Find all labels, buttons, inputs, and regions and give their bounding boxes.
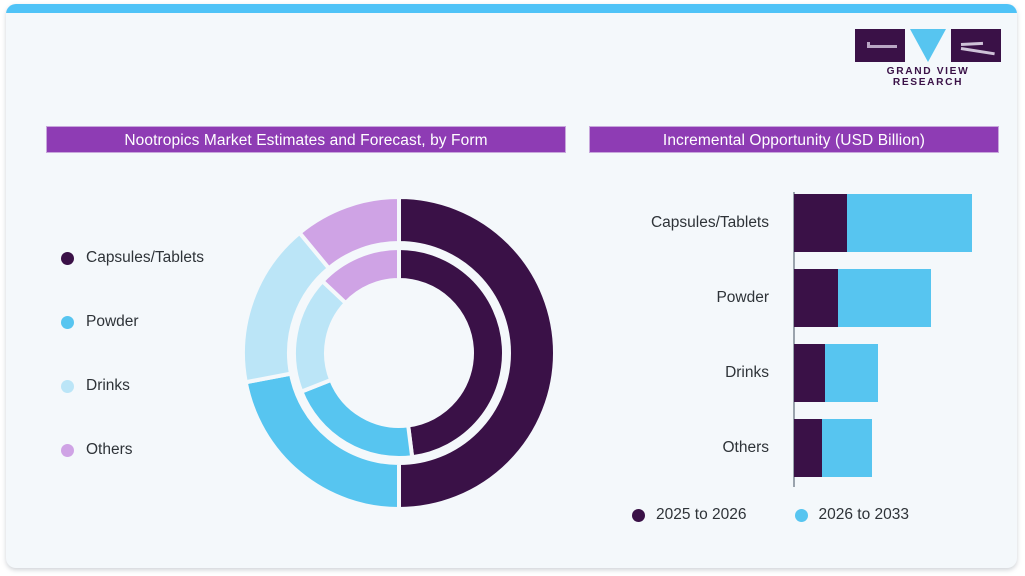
- accent-top-bar: [6, 4, 1017, 13]
- legend-swatch-icon: [632, 509, 645, 522]
- bar-row[interactable]: Capsules/Tablets: [606, 194, 1001, 252]
- legend-item-others[interactable]: Others: [61, 418, 251, 482]
- legend-item-capsules-tablets[interactable]: Capsules/Tablets: [61, 226, 251, 290]
- donut-legend: Capsules/Tablets Powder Drinks Others: [61, 226, 251, 482]
- legend-swatch-icon: [61, 380, 74, 393]
- logo-right-block-icon: [951, 29, 1001, 62]
- logo-mark: [855, 29, 1001, 62]
- bar-row[interactable]: Powder: [606, 269, 1001, 327]
- legend-swatch-icon: [61, 252, 74, 265]
- legend-item-2025-2026[interactable]: 2025 to 2026: [632, 506, 747, 524]
- bar-category-label: Others: [722, 439, 769, 457]
- legend-label: Others: [86, 441, 133, 459]
- grand-view-research-logo: GRAND VIEW RESEARCH: [855, 29, 1001, 79]
- nested-donut-chart: [236, 190, 562, 516]
- bar-row[interactable]: Others: [606, 419, 1001, 477]
- logo-left-line-icon: [867, 45, 897, 48]
- bar-row[interactable]: Drinks: [606, 344, 1001, 402]
- bar-category-label: Drinks: [725, 364, 769, 382]
- legend-item-powder[interactable]: Powder: [61, 290, 251, 354]
- legend-label: 2025 to 2026: [656, 506, 747, 524]
- bar-segment-2026-2033[interactable]: [825, 344, 878, 402]
- brand-name: GRAND VIEW RESEARCH: [855, 66, 1001, 88]
- legend-item-2026-2033[interactable]: 2026 to 2033: [795, 506, 910, 524]
- legend-label: Capsules/Tablets: [86, 249, 204, 267]
- bar-category-label: Capsules/Tablets: [651, 214, 769, 232]
- legend-label: Drinks: [86, 377, 130, 395]
- bar-chart-legend: 2025 to 2026 2026 to 2033: [632, 506, 972, 524]
- legend-item-drinks[interactable]: Drinks: [61, 354, 251, 418]
- bar-segment-2025-2026[interactable]: [794, 194, 847, 252]
- bar-segment-2026-2033[interactable]: [847, 194, 972, 252]
- incremental-opportunity-bar-chart: Capsules/Tablets Powder Drinks Others: [606, 190, 1001, 490]
- bar-segment-2025-2026[interactable]: [794, 419, 822, 477]
- bar-segment-2026-2033[interactable]: [838, 269, 931, 327]
- bar-segment-2026-2033[interactable]: [822, 419, 872, 477]
- legend-swatch-icon: [61, 444, 74, 457]
- right-chart-title: Incremental Opportunity (USD Billion): [589, 126, 999, 153]
- logo-triangle-icon: [910, 29, 946, 62]
- bar-segment-2025-2026[interactable]: [794, 269, 838, 327]
- left-chart-title: Nootropics Market Estimates and Forecast…: [46, 126, 566, 153]
- bar-segment-2025-2026[interactable]: [794, 344, 825, 402]
- bar-category-label: Powder: [716, 289, 769, 307]
- legend-label: Powder: [86, 313, 139, 331]
- legend-swatch-icon: [61, 316, 74, 329]
- legend-label: 2026 to 2033: [819, 506, 910, 524]
- logo-left-tick-icon: [867, 42, 870, 48]
- donut-svg: [236, 190, 562, 516]
- report-card: GRAND VIEW RESEARCH Nootropics Market Es…: [6, 4, 1017, 568]
- legend-swatch-icon: [795, 509, 808, 522]
